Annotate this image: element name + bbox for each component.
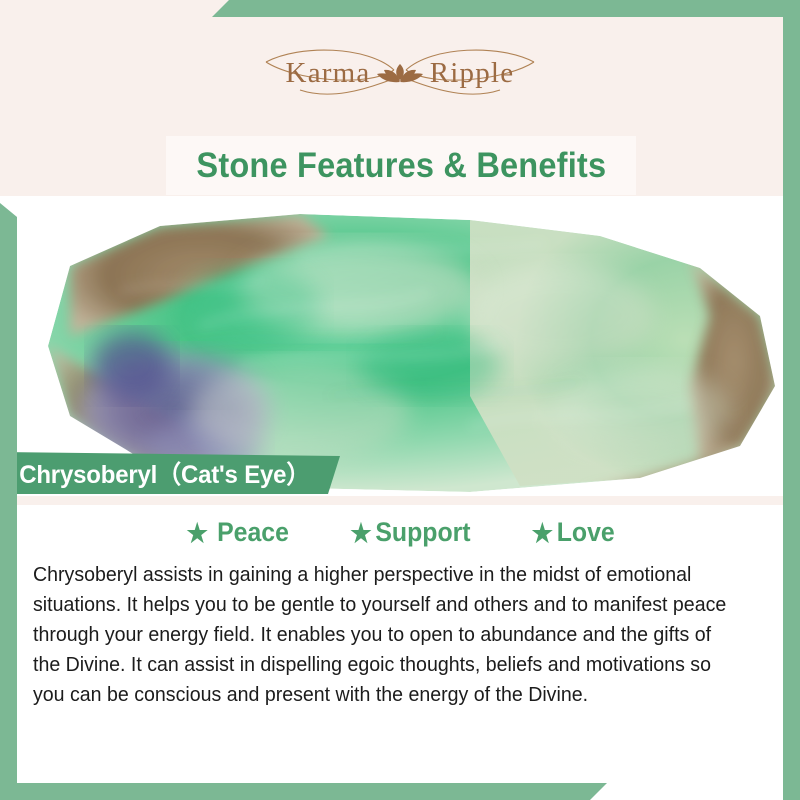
stone-description: Chrysoberyl assists in gaining a higher …	[33, 560, 735, 710]
stone-name-banner: Chrysoberyl（Cat's Eye）	[0, 452, 340, 494]
stone-photo	[0, 196, 800, 496]
benefits-list: ★ Peace ★ Support ★ Love	[0, 517, 800, 548]
decor-right-bar	[783, 0, 800, 800]
decor-bottom-bar	[0, 783, 607, 800]
benefit-label-support: Support	[375, 517, 470, 548]
brand-word-left: Karma	[286, 57, 371, 89]
benefit-label-love: Love	[557, 517, 615, 548]
benefit-love: ★ Love	[532, 517, 615, 548]
benefit-peace: ★ Peace	[186, 517, 288, 548]
brand-logo: Karma Ripple	[0, 40, 800, 108]
star-icon: ★	[532, 520, 553, 546]
page-title-band: Stone Features & Benefits	[166, 136, 636, 195]
stone-photo-graphic	[0, 196, 800, 496]
stone-name: Chrysoberyl（Cat's Eye）	[0, 455, 310, 491]
star-icon: ★	[186, 520, 207, 546]
content-area: ★ Peace ★ Support ★ Love Chrysoberyl ass…	[0, 505, 800, 783]
page-title: Stone Features & Benefits	[196, 146, 606, 186]
decor-left-bar	[0, 203, 17, 800]
brand-logo-svg: Karma Ripple	[260, 40, 540, 108]
star-icon: ★	[350, 520, 371, 546]
divider-strip	[0, 496, 800, 505]
stone-info-card: Karma Ripple	[0, 0, 800, 800]
benefit-support: ★ Support	[350, 517, 470, 548]
brand-word-right: Ripple	[430, 57, 515, 89]
decor-top-bar	[212, 0, 800, 17]
benefit-label-peace: Peace	[217, 517, 289, 548]
